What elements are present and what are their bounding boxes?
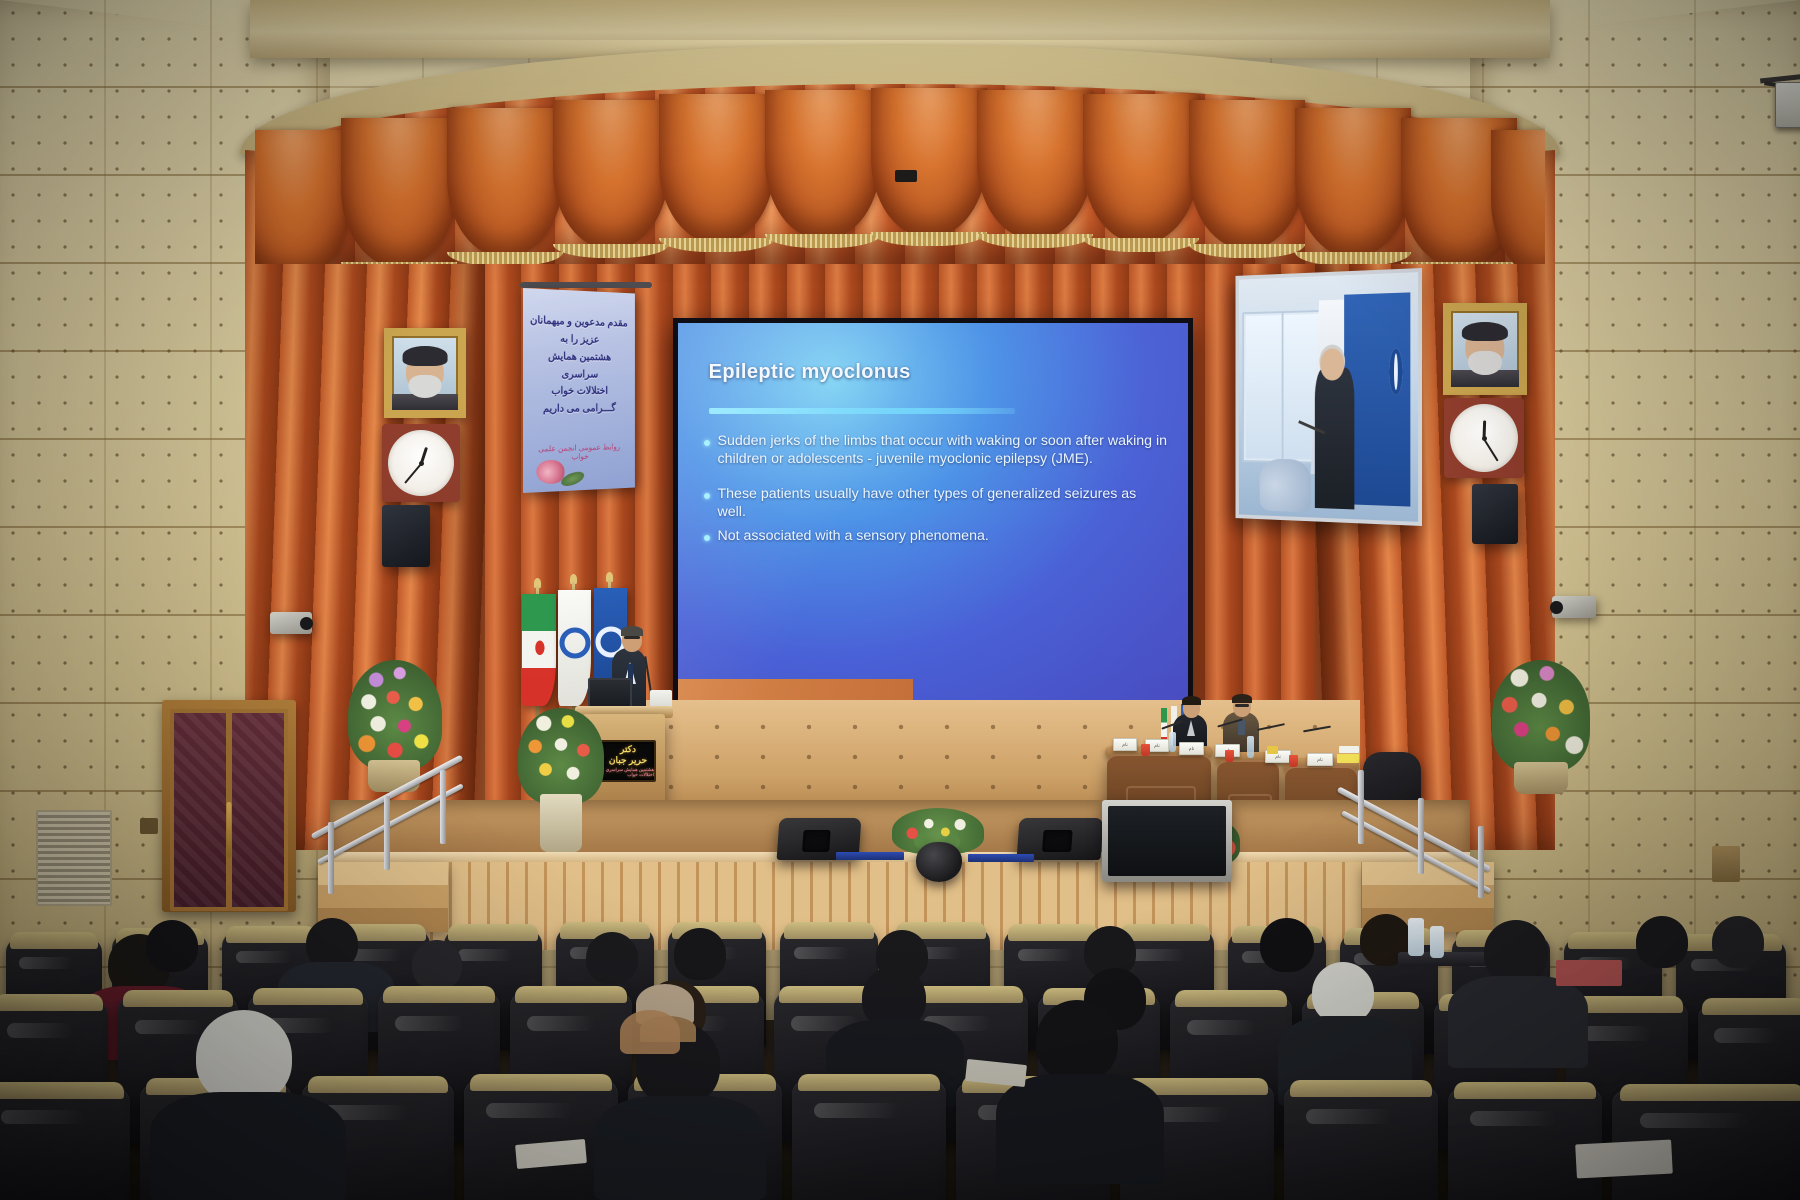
slide-bullet: Not associated with a sensory phenomena.: [704, 528, 1168, 546]
banner-rod: [520, 282, 652, 288]
nameplate-title: دکتر: [620, 744, 636, 754]
banner-line-2: هشتمین همایش سراسری: [528, 348, 630, 384]
slide-bullet: These patients usually have other types …: [704, 486, 1168, 522]
camera-lens-icon: [300, 617, 313, 630]
audience-head: [1312, 962, 1374, 1024]
audience-head: [196, 1010, 292, 1104]
audience-seat: [792, 1080, 946, 1200]
stage-monitor-screen-back: [1102, 800, 1232, 882]
feed-window-background: [1242, 310, 1322, 464]
water-bottle: [1247, 736, 1254, 758]
panelist-hair: [1182, 696, 1201, 705]
bullet-dot-icon: [704, 440, 710, 446]
presenter-glasses-icon: [624, 636, 640, 639]
feed-speaker-head: [1320, 348, 1343, 380]
wall-speaker-right: [1472, 484, 1518, 544]
nameplate-name: حرير جبان: [609, 755, 647, 765]
red-folder: [1556, 960, 1622, 986]
slide-title-underline: [709, 408, 1015, 414]
namecard: نام: [1179, 742, 1204, 755]
audience-head: [1484, 920, 1548, 984]
clock-minute-hand: [1483, 438, 1498, 461]
camera-lens-icon: [1550, 601, 1563, 614]
banner-line-1: مقدم مدعوین و میهمانان عزیز را به: [528, 312, 630, 350]
security-camera-right: [1552, 596, 1596, 618]
flower-vase: [916, 842, 962, 882]
blue-edge-strip: [968, 854, 1034, 862]
panelist-glasses-icon: [1235, 704, 1249, 707]
slide-bullet-text: Not associated with a sensory phenomena.: [718, 528, 989, 546]
feed-flowers: [1259, 459, 1311, 513]
audience-headscarf: [620, 1010, 680, 1054]
audience-head: [674, 928, 726, 980]
slide-bullet-list: Sudden jerks of the limbs that occur wit…: [704, 433, 1168, 550]
table-microphone: [1303, 726, 1331, 733]
slide-bullet: Sudden jerks of the limbs that occur wit…: [704, 433, 1168, 469]
audience-shoulders: [150, 1092, 346, 1200]
panelist-hair: [1232, 694, 1252, 703]
namecard: نام: [1113, 738, 1137, 751]
door-leaf-left[interactable]: [170, 709, 230, 911]
wall-speaker-left: [382, 505, 430, 567]
audience-shoulders: [594, 1096, 766, 1200]
podium-nameplate: دکتر حرير جبان هشتمین همایش سراسری اختلا…: [600, 740, 656, 782]
audience-head: [1712, 916, 1764, 968]
feed-flag-logo-icon: [1389, 348, 1403, 395]
feed-speaker-body: [1315, 368, 1355, 510]
audience-head: [586, 932, 638, 984]
hall-door[interactable]: [162, 700, 296, 912]
ceiling-projector: [880, 30, 970, 130]
slide-bullet-text: Sudden jerks of the limbs that occur wit…: [718, 433, 1168, 469]
audience-seat: [0, 1088, 130, 1200]
left-wall-clock: [382, 424, 460, 502]
water-bottle: [1430, 926, 1444, 958]
door-handle[interactable]: [227, 802, 232, 858]
flower-arrangement-podium-left: [518, 708, 604, 804]
audience-head: [1260, 918, 1314, 972]
panelist-tie: [1238, 720, 1245, 735]
paper-sheet: [1575, 1140, 1673, 1179]
banner-line-3: اختلالات خواب: [528, 383, 630, 401]
wall-socket: [140, 818, 158, 834]
tall-vase: [540, 794, 582, 852]
stage-rigging-box: [895, 170, 917, 182]
banner-line-4: گـــرامی می داریم: [528, 401, 630, 419]
right-wall-clock: [1444, 398, 1524, 478]
namecard: نام: [1307, 753, 1333, 766]
notepad: [1267, 746, 1278, 754]
bullet-dot-icon: [704, 493, 710, 499]
wall-outlet-panel: [1712, 846, 1740, 882]
slide-title: Epileptic myoclonus: [709, 361, 1158, 384]
door-leaf-right[interactable]: [228, 709, 288, 911]
audience-head: [1636, 916, 1688, 968]
welcome-banner: مقدم مدعوین و میهمانان عزیز را به هشتمین…: [523, 288, 635, 493]
table-microphone: [1257, 723, 1285, 731]
audience-shoulders: [996, 1074, 1164, 1184]
nameplate-subtitle: هشتمین همایش سراسری اختلالات خواب: [602, 767, 654, 777]
water-bottle: [1169, 732, 1176, 752]
slide-footer-band: [678, 679, 913, 701]
slide-bullet-text: These patients usually have other types …: [718, 486, 1168, 522]
live-camera-feed: [1239, 272, 1418, 522]
wall-air-vent: [36, 810, 112, 906]
handrail-left: [312, 752, 472, 902]
drink-cup: [1289, 755, 1298, 767]
presenter-hair: [621, 626, 643, 636]
secondary-projection-screen: [1235, 268, 1422, 526]
blue-edge-strip: [836, 852, 904, 860]
bullet-dot-icon: [704, 535, 710, 541]
clock-minute-hand: [404, 463, 422, 483]
audience-seat: [1284, 1086, 1438, 1200]
right-wall-portrait: [1443, 303, 1527, 395]
handrail-right: [1338, 748, 1508, 903]
audience-head: [412, 940, 462, 990]
drink-cup: [1225, 750, 1234, 762]
conference-hall-photo: Epileptic myoclonus Sudden jerks of the …: [0, 0, 1800, 1200]
drink-cup: [1141, 744, 1150, 756]
main-projection-screen: Epileptic myoclonus Sudden jerks of the …: [673, 318, 1193, 706]
audience-head: [1036, 1000, 1118, 1082]
security-camera-left: [270, 612, 312, 634]
flower-basket-right: [1514, 762, 1568, 794]
audience-shoulders: [1448, 976, 1588, 1068]
audience-head: [146, 920, 198, 972]
iran-national-flag: [522, 594, 556, 706]
left-wall-portrait: [384, 328, 466, 418]
water-bottle: [1408, 918, 1424, 956]
institution-white-flag: [558, 590, 591, 706]
